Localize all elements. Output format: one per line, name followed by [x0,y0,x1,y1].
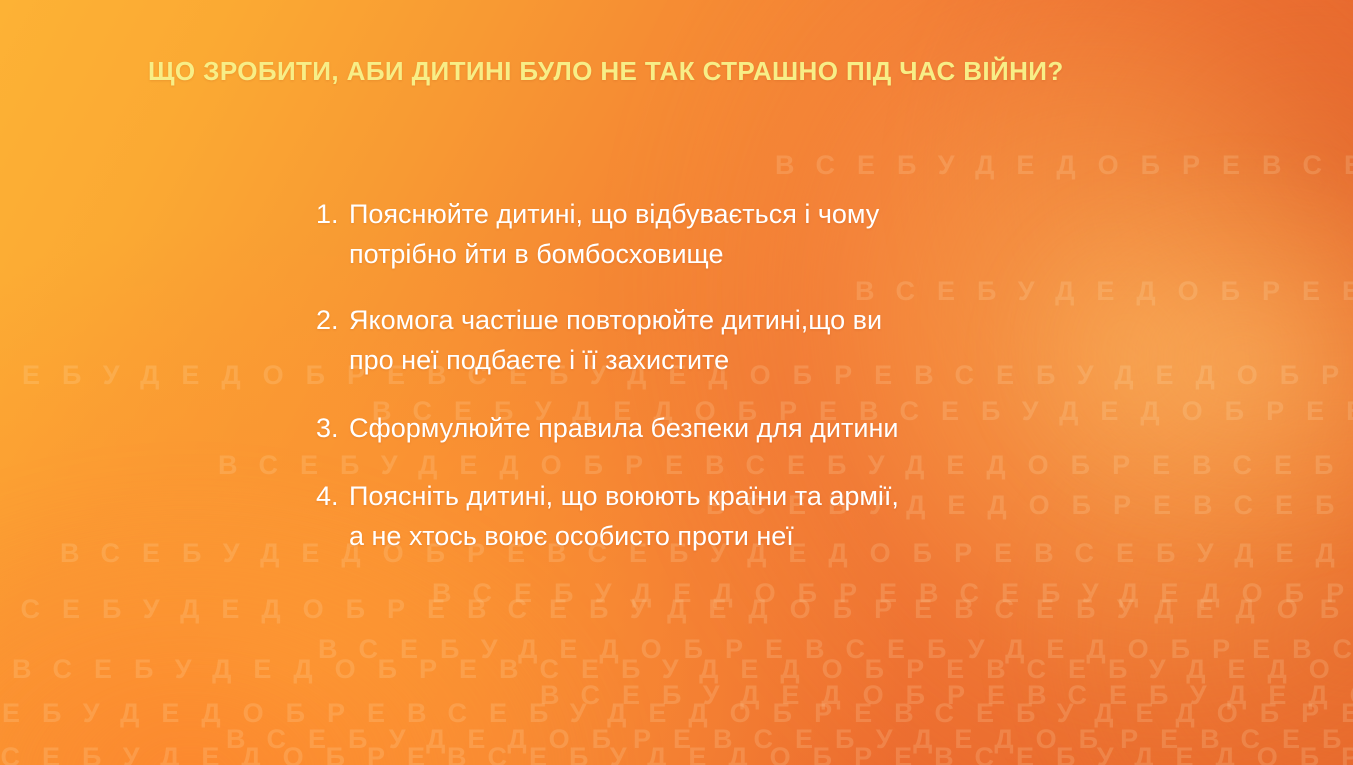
slide-canvas: ВСЕБУДЕДОБРЕВСЕБУДЕДОБРЕВСЕБУДЕДОБРЕВСЕБ… [0,0,1353,765]
page-title: ЩО ЗРОБИТИ, АБИ ДИТИНІ БУЛО НЕ ТАК СТРАШ… [148,56,1064,87]
watermark-row: ВСЕБУДЕДОБРЕВСЕБУДЕДОБРЕВСЕБУДЕДОБРЕВСЕБ… [0,744,1353,765]
list-item-text: Поясніть дитині, що воюють країни та арм… [349,476,1076,556]
watermark-row: ВСЕБУДЕДОБРЕВСЕБУДЕДОБРЕВСЕБУДЕДОБРЕВСЕБ… [0,700,1353,727]
list-item-text: Пояснюйте дитині, що відбувається і чому… [349,194,1076,274]
list-item-text: Сформулюйте правила безпеки для дитини [349,408,1076,448]
advice-list: 1. Пояснюйте дитині, що відбувається і ч… [316,194,1076,556]
list-item-text: Якомога частіше повторюйте дитині,що ви … [349,300,1076,380]
watermark-row: ВСЕБУДЕДОБРЕВСЕБУДЕДОБРЕВСЕБУДЕДОБРЕВСЕБ… [318,636,1353,663]
list-item-number: 1. [316,194,349,234]
list-item: 2. Якомога частіше повторюйте дитині,що … [316,300,1076,380]
watermark-row: ВСЕБУДЕДОБРЕВСЕБУДЕДОБРЕВСЕБУДЕДОБРЕВСЕБ… [226,726,1353,753]
list-item-number: 3. [316,408,349,448]
list-item: 1. Пояснюйте дитині, що відбувається і ч… [316,194,1076,274]
watermark-row: ВСЕБУДЕДОБРЕВСЕБУДЕДОБРЕВСЕБУДЕДОБРЕ [775,152,1353,179]
list-item: 4. Поясніть дитині, що воюють країни та … [316,476,1076,556]
watermark-row: ВСЕБУДЕДОБРЕВСЕБУДЕДОБРЕВСЕБУДЕДОБРЕ [540,682,1353,709]
list-item: 3. Сформулюйте правила безпеки для дитин… [316,408,1076,448]
list-item-number: 2. [316,300,349,340]
watermark-row: ВСЕБУДЕДОБРЕВСЕБУДЕДОБРЕВСЕБУДЕДОБРЕВСЕБ… [12,656,1353,683]
watermark-row: ВСЕБУДЕДОБРЕВСЕБУДЕДОБРЕВСЕБУДЕДОБРЕВСЕБ… [0,596,1353,623]
list-item-number: 4. [316,476,349,516]
watermark-row: ВСЕБУДЕДОБРЕВСЕБУДЕДОБРЕВСЕБУДЕДОБРЕ [432,580,1353,607]
